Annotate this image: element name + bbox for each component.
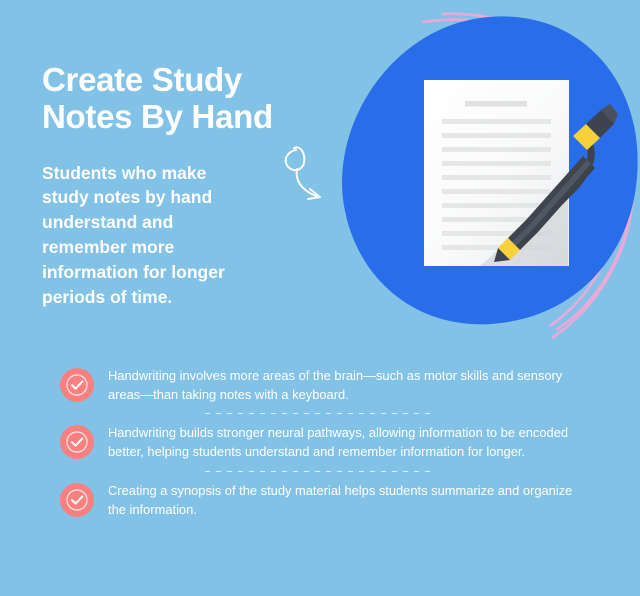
- list-item-text: Creating a synopsis of the study materia…: [108, 481, 590, 519]
- page-title-line-2: Notes By Hand: [42, 99, 332, 136]
- list-item: Creating a synopsis of the study materia…: [60, 481, 590, 519]
- dashed-divider: [205, 471, 433, 472]
- handwritten-notes-illustration: [330, 0, 640, 350]
- list-item-text: Handwriting builds stronger neural pathw…: [108, 423, 590, 461]
- list-item: Handwriting builds stronger neural pathw…: [60, 423, 590, 461]
- list-item: Handwriting involves more areas of the b…: [60, 366, 590, 404]
- curly-arrow-doodle: [272, 142, 342, 208]
- page-title-line-1: Create Study: [42, 62, 332, 99]
- list-item-text: Handwriting involves more areas of the b…: [108, 366, 590, 404]
- subheading: Students who make study notes by hand un…: [42, 161, 257, 310]
- check-circle-icon: [60, 483, 94, 517]
- check-circle-icon: [60, 368, 94, 402]
- page-title: Create Study Notes By Hand: [42, 62, 332, 136]
- white-paper-sheet: [424, 80, 569, 266]
- check-circle-icon: [60, 425, 94, 459]
- infographic-canvas: Create Study Notes By Hand Students who …: [0, 0, 640, 596]
- dashed-divider: [205, 413, 433, 414]
- benefits-list: Handwriting involves more areas of the b…: [60, 366, 590, 519]
